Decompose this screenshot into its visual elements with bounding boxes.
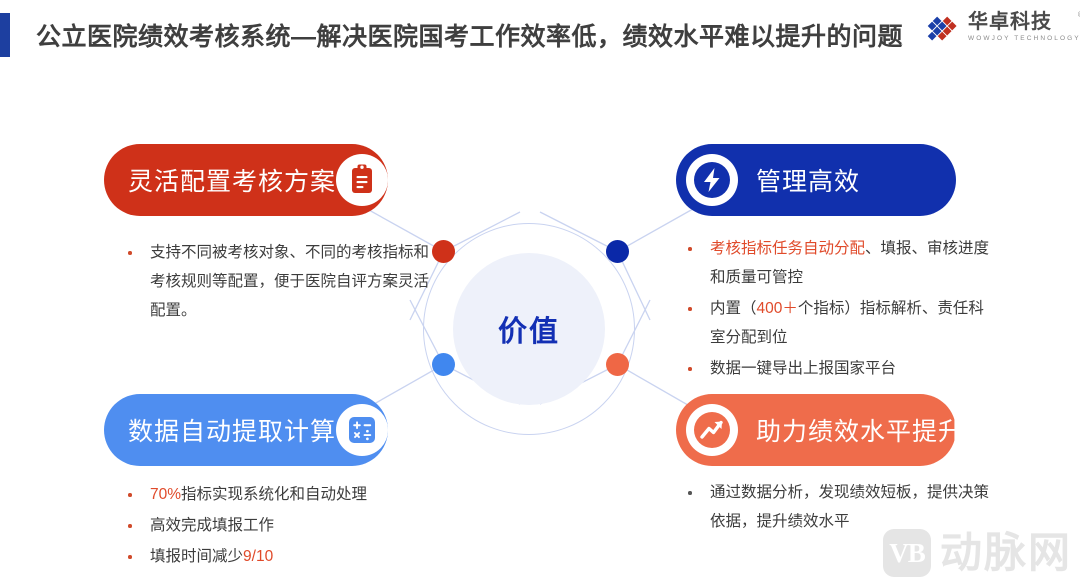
bullet-marker	[688, 367, 692, 371]
card-title-auto-data-extraction: 数据自动提取计算	[128, 412, 336, 448]
bullet-marker	[128, 555, 132, 559]
watermark: VB 动脉网	[883, 529, 1072, 577]
card-title-efficient-management: 管理高效	[756, 162, 860, 198]
bullet-text: 填报时间减少	[150, 548, 243, 565]
node-dot-top-right	[606, 240, 629, 263]
card-title-flexible-config: 灵活配置考核方案	[128, 162, 336, 198]
card-efficient-management-pill[interactable]: 管理高效	[676, 144, 956, 216]
bullet-marker	[688, 247, 692, 251]
watermark-text: 动脉网	[940, 531, 1072, 575]
slide-root: 公立医院绩效考核系统—解决医院国考工作效率低，绩效水平难以提升的问题 华卓科技	[0, 0, 1080, 583]
bullet-list: 70%指标实现系统化和自动处理高效完成填报工作填报时间减少9/10	[112, 480, 442, 571]
bullet-list: 通过数据分析，发现绩效短板，提供决策依据，提升绩效水平	[672, 478, 992, 536]
bullet-item: 通过数据分析，发现绩效短板，提供决策依据，提升绩效水平	[672, 478, 992, 536]
bullet-text: 高效完成填报工作	[150, 517, 274, 534]
node-dot-top-left	[432, 240, 455, 263]
bullet-text: 支持不同被考核对象、不同的考核指标和考核规则等配置，便于医院自评方案灵活配置。	[150, 244, 429, 319]
bullet-text-highlight: 考核指标任务自动分配	[710, 240, 865, 257]
bullet-marker	[128, 524, 132, 528]
hub-core: 价值	[453, 253, 605, 405]
bullet-item: 填报时间减少9/10	[112, 542, 442, 571]
card-performance-boost-pill[interactable]: 助力绩效水平提升	[676, 394, 956, 466]
bullet-item: 考核指标任务自动分配、填报、审核进度和质量可管控	[672, 234, 992, 292]
bullet-marker	[128, 493, 132, 497]
bullet-text-highlight: 400＋	[757, 300, 798, 317]
lightning-bolt-icon	[686, 154, 738, 206]
bullet-text: 数据一键导出上报国家平台	[710, 360, 896, 377]
bullet-item: 支持不同被考核对象、不同的考核指标和考核规则等配置，便于医院自评方案灵活配置。	[112, 238, 432, 325]
bullets-efficient-management: 考核指标任务自动分配、填报、审核进度和质量可管控内置（400＋个指标）指标解析、…	[672, 234, 992, 385]
bullet-text: 指标实现系统化和自动处理	[181, 486, 367, 503]
trend-up-icon	[686, 404, 738, 456]
bullet-text: 内置（	[710, 300, 757, 317]
bullet-item: 内置（400＋个指标）指标解析、责任科室分配到位	[672, 294, 992, 352]
card-title-performance-boost: 助力绩效水平提升	[756, 412, 964, 448]
card-auto-data-extraction-pill[interactable]: 数据自动提取计算	[104, 394, 388, 466]
bullet-list: 支持不同被考核对象、不同的考核指标和考核规则等配置，便于医院自评方案灵活配置。	[112, 238, 432, 325]
bullets-flexible-config: 支持不同被考核对象、不同的考核指标和考核规则等配置，便于医院自评方案灵活配置。	[112, 238, 432, 327]
bullet-marker	[128, 251, 132, 255]
card-flexible-config-pill[interactable]: 灵活配置考核方案	[104, 144, 388, 216]
bullet-list: 考核指标任务自动分配、填报、审核进度和质量可管控内置（400＋个指标）指标解析、…	[672, 234, 992, 383]
clipboard-icon	[336, 154, 388, 206]
bullet-item: 数据一键导出上报国家平台	[672, 354, 992, 383]
bullet-item: 70%指标实现系统化和自动处理	[112, 480, 442, 509]
bullet-marker	[688, 491, 692, 495]
bullet-text-highlight: 9/10	[243, 548, 273, 565]
bullet-text-highlight: 70%	[150, 486, 181, 503]
node-dot-bottom-left	[432, 353, 455, 376]
bullet-item: 高效完成填报工作	[112, 511, 442, 540]
bullet-marker	[688, 307, 692, 311]
bullets-auto-data-extraction: 70%指标实现系统化和自动处理高效完成填报工作填报时间减少9/10	[112, 480, 442, 573]
node-dot-bottom-right	[606, 353, 629, 376]
bullet-text: 通过数据分析，发现绩效短板，提供决策依据，提升绩效水平	[710, 484, 989, 530]
hub-label: 价值	[498, 308, 560, 350]
watermark-badge: VB	[883, 529, 931, 577]
calculator-icon	[336, 404, 388, 456]
